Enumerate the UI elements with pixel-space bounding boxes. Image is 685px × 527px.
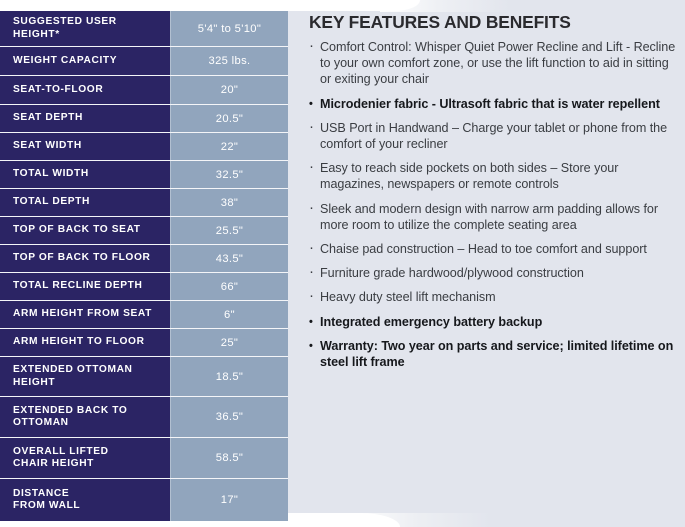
spec-label: SEAT WIDTH [0, 133, 170, 160]
spec-value: 66" [170, 273, 288, 300]
spec-label: OVERALL LIFTEDCHAIR HEIGHT [0, 438, 170, 478]
spec-value: 17" [170, 479, 288, 521]
feature-item: Chaise pad construction – Head to toe co… [309, 241, 677, 257]
spec-label-line: SEAT DEPTH [13, 112, 83, 124]
spec-value: 25" [170, 329, 288, 356]
table-row: EXTENDED OTTOMANHEIGHT18.5" [0, 357, 288, 397]
spec-label: SEAT DEPTH [0, 105, 170, 132]
spec-label: TOP OF BACK TO FLOOR [0, 245, 170, 272]
spec-label: SEAT-TO-FLOOR [0, 76, 170, 104]
spec-label-line: OTTOMAN [13, 417, 127, 429]
spec-value: 18.5" [170, 357, 288, 396]
spec-value: 32.5" [170, 161, 288, 188]
top-white-band [0, 0, 420, 11]
spec-label-line: TOTAL RECLINE DEPTH [13, 280, 143, 292]
spec-value: 36.5" [170, 397, 288, 437]
spec-label-line: EXTENDED OTTOMAN [13, 364, 133, 376]
spec-label-line: ARM HEIGHT TO FLOOR [13, 336, 145, 348]
spec-value: 25.5" [170, 217, 288, 244]
spec-label-line: DISTANCE [13, 488, 80, 500]
spec-label-line: CHAIR HEIGHT [13, 458, 109, 470]
feature-item: Heavy duty steel lift mechanism [309, 289, 677, 305]
feature-item: Sleek and modern design with narrow arm … [309, 201, 677, 233]
spec-value: 20.5" [170, 105, 288, 132]
table-row: TOTAL WIDTH32.5" [0, 161, 288, 189]
spec-label-line: TOTAL WIDTH [13, 168, 89, 180]
spec-value: 5'4" to 5'10" [170, 11, 288, 46]
spec-label: TOP OF BACK TO SEAT [0, 217, 170, 244]
spec-value: 6" [170, 301, 288, 328]
feature-item: Easy to reach side pockets on both sides… [309, 160, 677, 192]
spec-label-line: HEIGHT* [13, 29, 117, 41]
feature-item: Comfort Control: Whisper Quiet Power Rec… [309, 39, 677, 88]
features-heading: KEY FEATURES AND BENEFITS [309, 11, 677, 33]
table-row: SEAT-TO-FLOOR20" [0, 76, 288, 105]
spec-label: WEIGHT CAPACITY [0, 47, 170, 75]
table-row: SEAT DEPTH20.5" [0, 105, 288, 133]
spec-label: SUGGESTED USERHEIGHT* [0, 11, 170, 46]
table-row: TOTAL RECLINE DEPTH66" [0, 273, 288, 301]
spec-label-line: ARM HEIGHT FROM SEAT [13, 308, 152, 320]
table-row: TOTAL DEPTH38" [0, 189, 288, 217]
spec-label: TOTAL DEPTH [0, 189, 170, 216]
feature-item: Warranty: Two year on parts and service;… [309, 338, 677, 370]
table-row: SUGGESTED USERHEIGHT*5'4" to 5'10" [0, 11, 288, 47]
feature-item: Integrated emergency battery backup [309, 314, 677, 330]
spec-label-line: TOTAL DEPTH [13, 196, 90, 208]
table-row: EXTENDED BACK TOOTTOMAN36.5" [0, 397, 288, 438]
spec-label: TOTAL RECLINE DEPTH [0, 273, 170, 300]
spec-label-line: TOP OF BACK TO FLOOR [13, 252, 151, 264]
feature-item: Microdenier fabric - Ultrasoft fabric th… [309, 96, 677, 112]
spec-label-line: EXTENDED BACK TO [13, 405, 127, 417]
spec-value: 38" [170, 189, 288, 216]
spec-label-line: TOP OF BACK TO SEAT [13, 224, 141, 236]
feature-item: USB Port in Handwand – Charge your table… [309, 120, 677, 152]
spec-label: ARM HEIGHT TO FLOOR [0, 329, 170, 356]
table-row: ARM HEIGHT TO FLOOR25" [0, 329, 288, 357]
specifications-table: SUGGESTED USERHEIGHT*5'4" to 5'10"WEIGHT… [0, 11, 288, 513]
spec-value: 22" [170, 133, 288, 160]
key-features-panel: KEY FEATURES AND BENEFITS Comfort Contro… [309, 0, 685, 527]
spec-label-line: FROM WALL [13, 500, 80, 512]
spec-label: EXTENDED BACK TOOTTOMAN [0, 397, 170, 437]
spec-value: 325 lbs. [170, 47, 288, 75]
table-row: ARM HEIGHT FROM SEAT6" [0, 301, 288, 329]
table-row: SEAT WIDTH22" [0, 133, 288, 161]
table-row: TOP OF BACK TO FLOOR43.5" [0, 245, 288, 273]
product-spec-sheet: SUGGESTED USERHEIGHT*5'4" to 5'10"WEIGHT… [0, 0, 685, 527]
table-row: TOP OF BACK TO SEAT25.5" [0, 217, 288, 245]
spec-value: 43.5" [170, 245, 288, 272]
spec-label: TOTAL WIDTH [0, 161, 170, 188]
spec-value: 20" [170, 76, 288, 104]
spec-label: EXTENDED OTTOMANHEIGHT [0, 357, 170, 396]
feature-item: Furniture grade hardwood/plywood constru… [309, 265, 677, 281]
spec-label-line: SEAT WIDTH [13, 140, 82, 152]
spec-label-line: SUGGESTED USER [13, 16, 117, 28]
table-row: DISTANCEFROM WALL17" [0, 479, 288, 521]
spec-label: ARM HEIGHT FROM SEAT [0, 301, 170, 328]
spec-label-line: SEAT-TO-FLOOR [13, 84, 103, 96]
features-list: Comfort Control: Whisper Quiet Power Rec… [309, 39, 677, 370]
table-row: WEIGHT CAPACITY325 lbs. [0, 47, 288, 76]
spec-value: 58.5" [170, 438, 288, 478]
spec-label: DISTANCEFROM WALL [0, 479, 170, 521]
spec-label-line: WEIGHT CAPACITY [13, 55, 117, 67]
spec-label-line: HEIGHT [13, 377, 133, 389]
table-row: OVERALL LIFTEDCHAIR HEIGHT58.5" [0, 438, 288, 479]
spec-label-line: OVERALL LIFTED [13, 446, 109, 458]
